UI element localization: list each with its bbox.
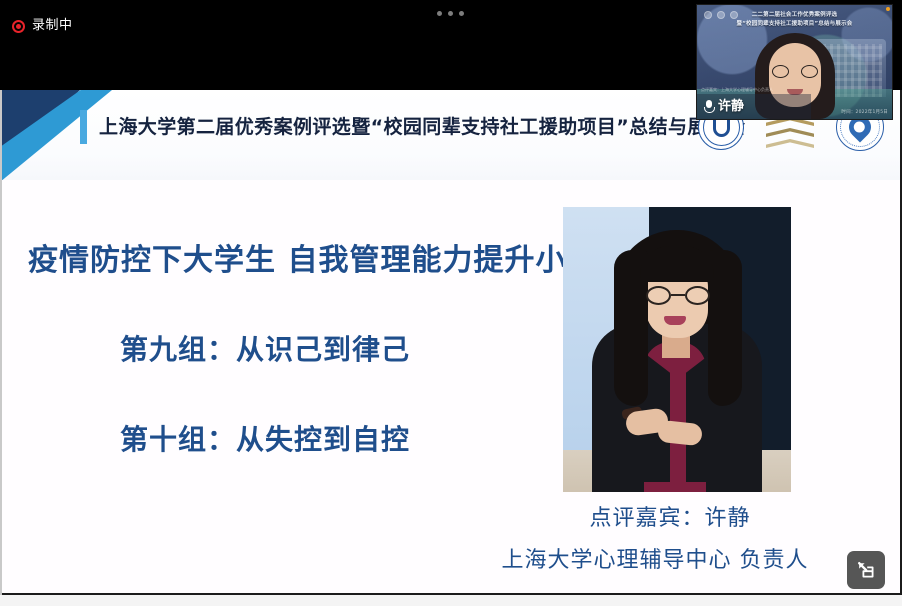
thumbnail-event-title: 二二第二届社会工作优秀案例评选 暨“校园同辈支持社工援助项目”总结与展示会: [697, 11, 892, 29]
exit-fullscreen-button[interactable]: [847, 551, 885, 589]
presenter-glasses: [644, 286, 712, 305]
slide-main-heading: 疫情防控下大学生 自我管理能力提升小组: [28, 235, 597, 279]
slide-caption-line-2: 上海大学心理辅导中心 负责人: [440, 542, 870, 574]
participant-name-bar: 许静: [697, 94, 811, 119]
recording-label: 录制中: [32, 19, 73, 33]
record-dot-icon: [12, 20, 25, 33]
participant-name: 许静: [718, 100, 744, 114]
presenter-photo: [563, 207, 791, 492]
slide-caption-line-1: 点评嘉宾：许静: [470, 500, 870, 532]
recording-indicator: 录制中: [12, 16, 73, 36]
glasses-left-lens: [772, 65, 789, 78]
meeting-screen-share-window: 录制中 二二第二届社会工作优秀案例评选 暨“校园同辈支持社工援助项目”总结与展示…: [0, 0, 902, 606]
more-dots-icon[interactable]: [437, 11, 464, 16]
presenter-figure: [584, 224, 770, 492]
slide-group-line-1: 第九组：从识己到律己: [120, 328, 410, 368]
shared-slide: 上海大学第二届优秀案例评选暨“校园同辈支持社工援助项目”总结与展示会 疫情防控下…: [0, 90, 902, 595]
presenter-mouth: [664, 316, 686, 325]
presenter-glasses-right-lens: [685, 286, 710, 305]
self-view-video-thumbnail[interactable]: 二二第二届社会工作优秀案例评选 暨“校园同辈支持社工援助项目”总结与展示会 点评…: [696, 4, 893, 120]
slide-group-line-2: 第十组：从失控到自控: [120, 418, 410, 458]
chevron-4: [766, 139, 814, 148]
slide-header-title: 上海大学第二届优秀案例评选暨“校园同辈支持社工援助项目”总结与展示会: [99, 110, 746, 144]
slide-left-edge: [0, 90, 2, 595]
more-dot-2: [448, 11, 453, 16]
presenter-glasses-left-lens: [646, 286, 671, 305]
chevron-3: [766, 128, 814, 137]
window-bottom-strip: [0, 595, 902, 606]
title-accent-bar: [80, 110, 87, 144]
person-glasses: [771, 65, 819, 78]
thumbnail-sub-caption: 点评嘉宾：上海大学心理辅导中心负责人: [701, 87, 773, 93]
presenter-glasses-bridge: [671, 294, 685, 296]
more-dot-3: [459, 11, 464, 16]
thumbnail-title-line-2: 暨“校园同辈支持社工援助项目”总结与展示会: [715, 20, 874, 29]
exit-fullscreen-icon: [856, 560, 876, 580]
thumbnail-title-line-1: 二二第二届社会工作优秀案例评选: [715, 11, 874, 20]
microphone-icon: [704, 100, 713, 114]
shu-logo-mark: [713, 118, 730, 137]
more-dot-1: [437, 11, 442, 16]
thumbnail-timestamp: 时间：2022年1月5日: [841, 109, 888, 115]
glasses-right-lens: [801, 65, 818, 78]
